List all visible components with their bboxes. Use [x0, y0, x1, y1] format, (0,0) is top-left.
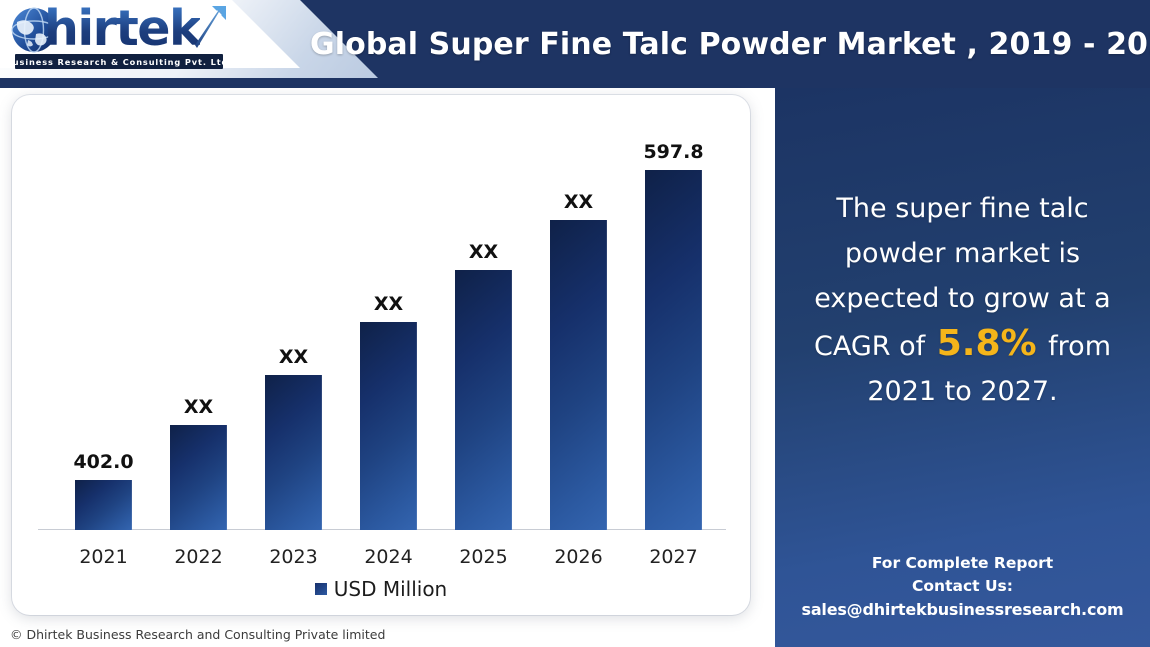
bar-2027[interactable]	[645, 170, 702, 530]
growth-arrow-icon	[193, 4, 229, 50]
contact-email[interactable]: sales@dhirtekbusinessresearch.com	[779, 598, 1146, 621]
chart-legend: USD Million	[12, 577, 750, 601]
bar-chart: USD Million 402.02021XX2022XX2023XX2024X…	[12, 95, 750, 615]
company-logo[interactable]: hirtek Business Research & Consulting Pv…	[8, 2, 278, 72]
page-title: Global Super Fine Talc Powder Market , 2…	[310, 0, 1150, 88]
legend-label-usd-million: USD Million	[334, 577, 448, 601]
x-axis-tick-2026: 2026	[534, 546, 624, 568]
bar-2024[interactable]	[360, 322, 417, 530]
contact-block: For Complete Report Contact Us: sales@dh…	[779, 552, 1146, 621]
bar-2025[interactable]	[455, 270, 512, 530]
bar-value-label-2025: XX	[439, 241, 529, 263]
cagr-value: 5.8%	[934, 323, 1040, 364]
bar-2021[interactable]	[75, 480, 132, 530]
x-axis-tick-2025: 2025	[439, 546, 529, 568]
contact-label: Contact Us:	[779, 575, 1146, 598]
bar-value-label-2026: XX	[534, 191, 624, 213]
bar-2022[interactable]	[170, 425, 227, 530]
bar-2023[interactable]	[265, 375, 322, 530]
contact-heading: For Complete Report	[779, 552, 1146, 575]
logo-wordmark: hirtek	[44, 0, 200, 57]
x-axis-tick-2021: 2021	[59, 546, 149, 568]
logo-tagline: Business Research & Consulting Pvt. Ltd.	[15, 54, 223, 69]
header-banner: hirtek Business Research & Consulting Pv…	[0, 0, 1150, 88]
chart-card: USD Million 402.02021XX2022XX2023XX2024X…	[12, 95, 750, 615]
legend-swatch-usd-million	[315, 583, 327, 595]
x-axis-tick-2027: 2027	[629, 546, 719, 568]
bar-value-label-2024: XX	[344, 293, 434, 315]
x-axis-tick-2022: 2022	[154, 546, 244, 568]
summary-panel: The super fine talc powder market is exp…	[775, 88, 1150, 647]
copyright-footer: © Dhirtek Business Research and Consulti…	[10, 627, 385, 642]
bar-value-label-2022: XX	[154, 396, 244, 418]
market-statement: The super fine talc powder market is exp…	[785, 186, 1140, 414]
bar-value-label-2027: 597.8	[629, 141, 719, 163]
x-axis-tick-2023: 2023	[249, 546, 339, 568]
bar-2026[interactable]	[550, 220, 607, 530]
bar-value-label-2023: XX	[249, 346, 339, 368]
x-axis-tick-2024: 2024	[344, 546, 434, 568]
bar-value-label-2021: 402.0	[59, 451, 149, 473]
